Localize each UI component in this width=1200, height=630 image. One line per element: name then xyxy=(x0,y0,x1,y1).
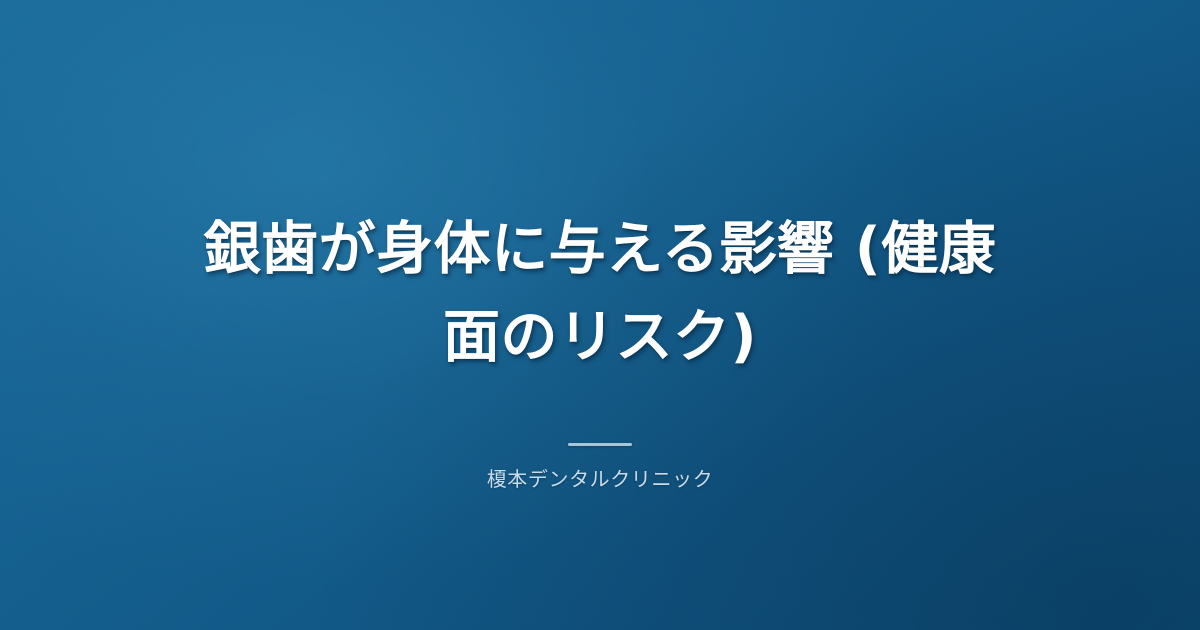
page-title-line-1: 銀歯が身体に与える影響 (健康 xyxy=(204,216,997,282)
page-title-line-2: 面のリスク) xyxy=(443,304,757,370)
title-card: 銀歯が身体に与える影響 (健康 面のリスク) 榎本デンタルクリニック xyxy=(0,0,1200,630)
hero-content: 銀歯が身体に与える影響 (健康 面のリスク) 榎本デンタルクリニック xyxy=(100,205,1100,493)
page-title: 銀歯が身体に与える影響 (健康 面のリスク) xyxy=(100,205,1100,381)
title-divider xyxy=(568,443,632,446)
subtitle-clinic-name: 榎本デンタルクリニック xyxy=(487,465,714,493)
